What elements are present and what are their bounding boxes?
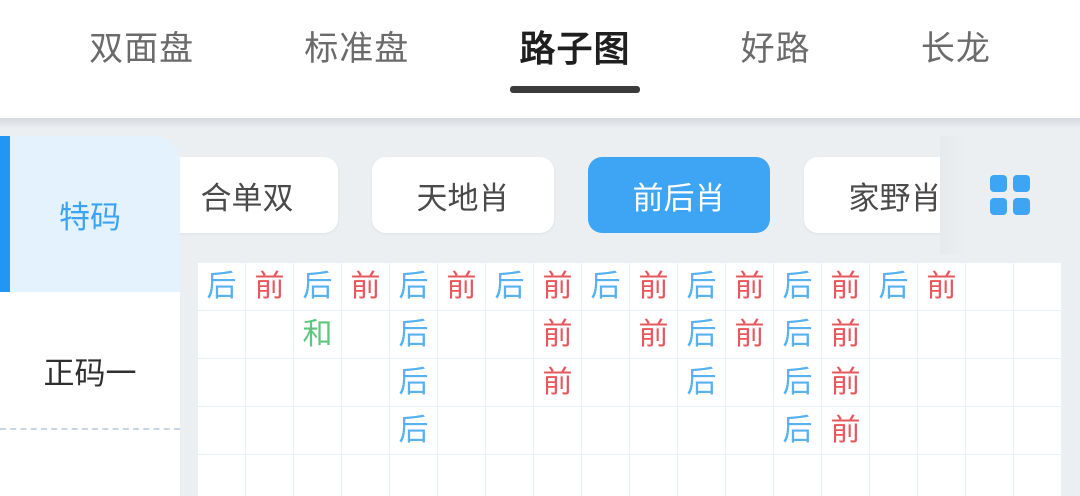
roadmap-cell-empty xyxy=(486,311,534,359)
tab-label: 双面盘 xyxy=(89,30,194,68)
roadmap-cell-empty xyxy=(438,407,486,455)
roadmap-cell-empty xyxy=(630,407,678,455)
roadmap-cell-empty xyxy=(630,359,678,407)
grid-icon-square-3 xyxy=(990,198,1007,215)
roadmap-cell-empty xyxy=(966,263,1014,311)
sidebar-item-label: 特码 xyxy=(59,192,121,237)
roadmap-cell-value: 后 xyxy=(390,263,438,311)
roadmap-cell-value: 前 xyxy=(534,263,582,311)
roadmap-cell-empty xyxy=(342,359,390,407)
roadmap-cell-empty xyxy=(198,455,246,496)
roadmap-cell-empty xyxy=(342,407,390,455)
roadmap-cell-empty xyxy=(198,359,246,407)
chip-hedanshuang[interactable]: 合单双 xyxy=(180,157,338,233)
chip-qianhouxiao[interactable]: 前后肖 xyxy=(588,157,770,233)
roadmap-grid[interactable]: 后前后前后前后前后前后前后前后前和后前前后前后前后前后后前后后前 xyxy=(197,262,1061,496)
roadmap-cell-empty xyxy=(966,359,1014,407)
chip-tiandixiao[interactable]: 天地肖 xyxy=(372,157,554,233)
roadmap-cell-value: 后 xyxy=(870,263,918,311)
roadmap-cell-value: 和 xyxy=(294,311,342,359)
tab-changlong[interactable]: 长龙 xyxy=(911,26,1001,92)
roadmap-cell-empty xyxy=(1014,311,1062,359)
roadmap-cell-value: 前 xyxy=(822,263,870,311)
roadmap-cell-empty xyxy=(534,455,582,496)
roadmap-cell-empty xyxy=(198,407,246,455)
roadmap-cell-value: 后 xyxy=(294,263,342,311)
roadmap-cell-empty xyxy=(1014,263,1062,311)
active-tab-underline xyxy=(510,86,640,93)
roadmap-cell-value: 后 xyxy=(390,311,438,359)
roadmap-cell-value: 后 xyxy=(774,311,822,359)
roadmap-cell-value: 前 xyxy=(726,311,774,359)
roadmap-cell-empty xyxy=(822,455,870,496)
roadmap-cell-value: 后 xyxy=(774,407,822,455)
top-tab-bar: 双面盘 标准盘 路子图 好路 长龙 xyxy=(0,0,1080,118)
roadmap-cell-empty xyxy=(198,311,246,359)
roadmap-area: 后前后前后前后前后前后前后前后前和后前前后前后前后前后后前后后前 xyxy=(180,254,1080,496)
roadmap-cell-value: 前 xyxy=(246,263,294,311)
chip-label: 家野肖 xyxy=(849,173,942,218)
sidebar-divider xyxy=(0,428,180,430)
roadmap-cell-empty xyxy=(870,407,918,455)
grid-view-icon[interactable] xyxy=(990,175,1030,215)
roadmap-cell-value: 前 xyxy=(822,407,870,455)
roadmap-cell-empty xyxy=(1014,407,1062,455)
roadmap-cell-value: 前 xyxy=(918,263,966,311)
roadmap-cell-empty xyxy=(918,359,966,407)
tab-bar-shadow xyxy=(0,118,1080,128)
roadmap-cell-value: 前 xyxy=(630,263,678,311)
tab-biaozhunpan[interactable]: 标准盘 xyxy=(294,26,419,92)
roadmap-cell-empty xyxy=(918,407,966,455)
roadmap-cell-value: 后 xyxy=(198,263,246,311)
roadmap-cell-empty xyxy=(918,455,966,496)
chip-label: 合单双 xyxy=(201,173,294,218)
roadmap-cell-empty xyxy=(294,455,342,496)
roadmap-cell-empty xyxy=(966,311,1014,359)
roadmap-cell-empty xyxy=(678,407,726,455)
roadmap-cell-value: 后 xyxy=(486,263,534,311)
roadmap-cell-empty xyxy=(726,407,774,455)
roadmap-cell-value: 后 xyxy=(774,359,822,407)
roadmap-cell-empty xyxy=(486,455,534,496)
roadmap-cell-value: 前 xyxy=(726,263,774,311)
roadmap-cell-empty xyxy=(870,455,918,496)
roadmap-cell-empty xyxy=(582,311,630,359)
roadmap-cell-empty xyxy=(246,455,294,496)
roadmap-cell-value: 前 xyxy=(534,311,582,359)
tab-label: 好路 xyxy=(741,30,811,68)
roadmap-cell-empty xyxy=(1014,455,1062,496)
sidebar-item-zhengmayi[interactable]: 正码一 xyxy=(0,292,180,448)
roadmap-cell-value: 前 xyxy=(534,359,582,407)
grid-icon-square-1 xyxy=(990,175,1007,192)
roadmap-cell-empty xyxy=(438,455,486,496)
roadmap-cell-empty xyxy=(246,311,294,359)
roadmap-cell-value: 前 xyxy=(630,311,678,359)
roadmap-cell-empty xyxy=(438,359,486,407)
app-root: 双面盘 标准盘 路子图 好路 长龙 特码 正码一 合单双 天 xyxy=(0,0,1080,496)
tab-shuangmianpan[interactable]: 双面盘 xyxy=(79,26,204,92)
roadmap-cell-empty xyxy=(390,455,438,496)
roadmap-cell-empty xyxy=(582,455,630,496)
grid-icon-square-2 xyxy=(1013,175,1030,192)
roadmap-cell-empty xyxy=(774,455,822,496)
tab-haolu[interactable]: 好路 xyxy=(731,26,821,92)
roadmap-cell-empty xyxy=(246,359,294,407)
roadmap-cell-empty xyxy=(438,311,486,359)
roadmap-cell-value: 前 xyxy=(342,263,390,311)
roadmap-cell-empty xyxy=(1014,359,1062,407)
roadmap-cell-value: 前 xyxy=(438,263,486,311)
roadmap-cell-empty xyxy=(726,359,774,407)
roadmap-cell-empty xyxy=(294,359,342,407)
roadmap-cell-empty xyxy=(966,455,1014,496)
sidebar-active-accent-bar xyxy=(0,136,10,292)
roadmap-cell-empty xyxy=(582,407,630,455)
sidebar-item-label: 正码一 xyxy=(44,348,137,393)
left-sidebar: 特码 正码一 xyxy=(0,136,180,496)
roadmap-cell-empty xyxy=(870,311,918,359)
roadmap-cell-empty xyxy=(246,407,294,455)
roadmap-cell-empty xyxy=(342,455,390,496)
roadmap-cell-value: 后 xyxy=(678,263,726,311)
tab-label: 路子图 xyxy=(519,28,630,69)
roadmap-cell-value: 后 xyxy=(774,263,822,311)
roadmap-cell-empty xyxy=(582,359,630,407)
grid-icon-square-4 xyxy=(1013,198,1030,215)
sidebar-item-tema[interactable]: 特码 xyxy=(0,136,180,292)
roadmap-cell-value: 后 xyxy=(390,407,438,455)
roadmap-cell-empty xyxy=(486,407,534,455)
roadmap-cell-empty xyxy=(726,455,774,496)
roadmap-cell-empty xyxy=(294,407,342,455)
roadmap-cell-empty xyxy=(678,455,726,496)
grid-view-button-panel[interactable] xyxy=(940,136,1080,254)
roadmap-cell-empty xyxy=(918,311,966,359)
roadmap-cell-value: 后 xyxy=(390,359,438,407)
roadmap-cell-value: 后 xyxy=(678,311,726,359)
roadmap-cell-value: 后 xyxy=(582,263,630,311)
roadmap-cell-empty xyxy=(342,311,390,359)
chip-label: 前后肖 xyxy=(633,173,726,218)
roadmap-cell-empty xyxy=(486,359,534,407)
roadmap-cell-value: 后 xyxy=(678,359,726,407)
chip-label: 天地肖 xyxy=(417,173,510,218)
roadmap-cell-empty xyxy=(534,407,582,455)
roadmap-cell-empty xyxy=(630,455,678,496)
tab-luzitu[interactable]: 路子图 xyxy=(509,25,640,93)
roadmap-cell-empty xyxy=(966,407,1014,455)
tab-label: 长龙 xyxy=(921,30,991,68)
tab-label: 标准盘 xyxy=(304,30,409,68)
roadmap-cell-value: 前 xyxy=(822,359,870,407)
roadmap-cell-empty xyxy=(870,359,918,407)
roadmap-cell-value: 前 xyxy=(822,311,870,359)
